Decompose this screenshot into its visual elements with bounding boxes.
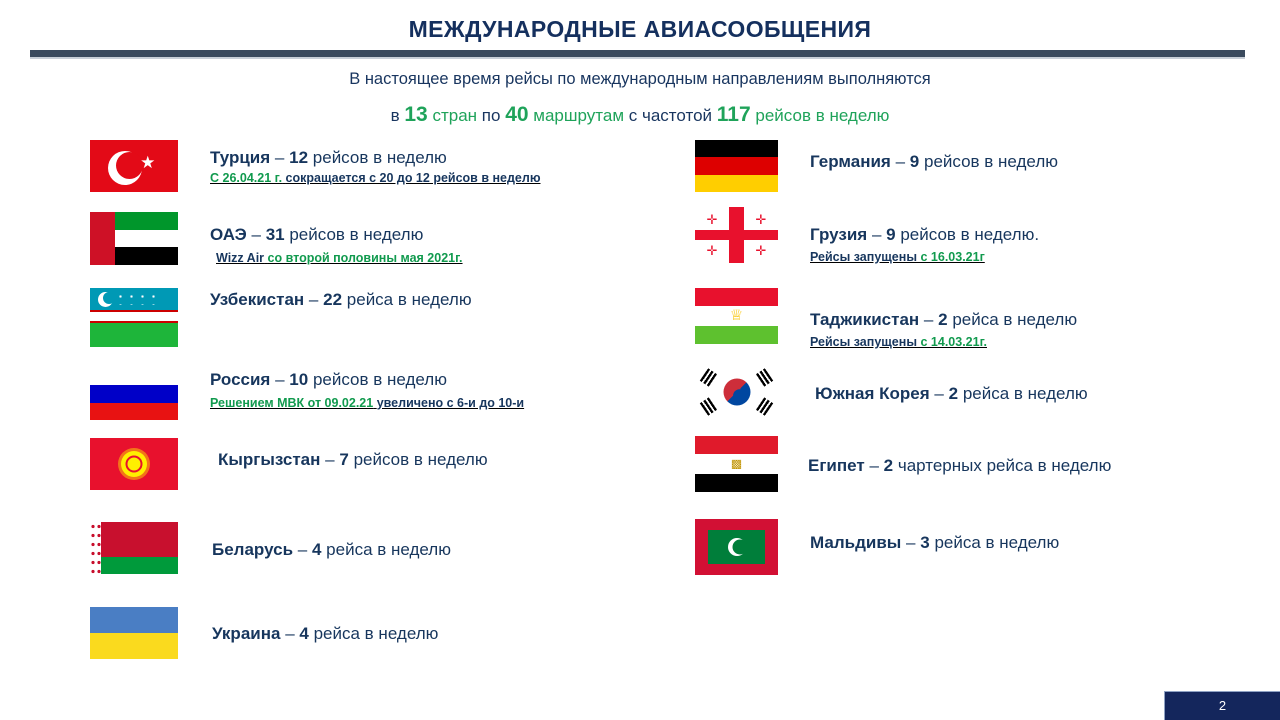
dash: –: [325, 450, 334, 469]
dash: –: [285, 624, 294, 643]
country-line: Беларусь – 4 рейса в неделю: [212, 540, 451, 560]
flight-count: 31: [266, 225, 285, 244]
south-korea-flag: [695, 364, 778, 420]
georgia-flag: ✛ ✛ ✛ ✛: [695, 207, 778, 263]
list-item: ♕ Таджикистан – 2 рейса в неделю Рейсы з…: [640, 288, 1280, 358]
dash: –: [924, 310, 933, 329]
country-name: Грузия: [810, 225, 867, 244]
uae-flag: [90, 212, 178, 265]
country-note: Решением МВК от 09.02.21 увеличено с 6-и…: [210, 396, 524, 411]
country-name: ОАЭ: [210, 225, 247, 244]
flight-unit: рейса в неделю: [347, 290, 472, 309]
country-text: Узбекистан – 22 рейса в неделю: [210, 290, 472, 310]
note-navy: увеличено с 6-и до 10-и: [377, 396, 524, 410]
note-navy: Рейсы запущены: [810, 250, 917, 264]
country-name: Мальдивы: [810, 533, 901, 552]
list-item: Украина – 4 рейса в неделю: [0, 607, 640, 667]
routes-word: маршрутам: [533, 106, 624, 125]
list-item: Россия – 10 рейсов в неделю Решением МВК…: [0, 368, 640, 436]
uzbekistan-flag: [90, 288, 178, 347]
dash: –: [869, 456, 878, 475]
country-name: Таджикистан: [810, 310, 919, 329]
page-title: МЕЖДУНАРОДНЫЕ АВИАСООБЩЕНИЯ: [0, 16, 1280, 43]
flight-count: 9: [910, 152, 919, 171]
country-text: ОАЭ – 31 рейсов в неделю Wizz Air со вто…: [210, 225, 463, 266]
dash: –: [906, 533, 915, 552]
flight-unit: рейса в неделю: [952, 310, 1077, 329]
page-number-badge: 2: [1164, 691, 1280, 720]
ukraine-flag: [90, 607, 178, 659]
list-item: Германия – 9 рейсов в неделю: [640, 140, 1280, 204]
flights-word: рейсов в неделю: [755, 106, 889, 125]
list-item: Южная Корея – 2 рейса в неделю: [640, 364, 1280, 428]
country-name: Египет: [808, 456, 865, 475]
dash: –: [251, 225, 260, 244]
country-line: Украина – 4 рейса в неделю: [212, 624, 438, 644]
slide-root: МЕЖДУНАРОДНЫЕ АВИАСООБЩЕНИЯ В настоящее …: [0, 0, 1280, 720]
flight-unit: чартерных рейса в неделю: [898, 456, 1112, 475]
flight-unit: рейсов в неделю: [289, 225, 423, 244]
note-green: с 16.03.21г: [920, 250, 984, 264]
country-note: С 26.04.21 г. сокращается с 20 до 12 рей…: [210, 171, 541, 186]
country-name: Беларусь: [212, 540, 293, 559]
note-green: с 14.03.21г.: [920, 335, 987, 349]
country-note: Wizz Air со второй половины мая 2021г.: [216, 251, 463, 266]
title-divider: [30, 50, 1245, 57]
flight-count: 4: [312, 540, 321, 559]
by-word: по: [482, 106, 501, 125]
country-name: Кыргызстан: [218, 450, 320, 469]
summary-line-1: В настоящее время рейсы по международным…: [0, 70, 1280, 89]
note-navy: Wizz Air: [216, 251, 264, 265]
flight-count: 9: [886, 225, 895, 244]
country-line: Египет – 2 чартерных рейса в неделю: [808, 456, 1111, 476]
flight-count: 10: [289, 370, 308, 389]
russia-flag: [90, 368, 178, 420]
flight-unit: рейсов в неделю: [313, 148, 447, 167]
flight-unit: рейса в неделю: [326, 540, 451, 559]
flight-unit: рейса в неделю: [314, 624, 439, 643]
flight-unit: рейсов в неделю: [354, 450, 488, 469]
list-item: ★ Турция – 12 рейсов в неделю С 26.04.21…: [0, 140, 640, 210]
flight-count: 4: [299, 624, 308, 643]
flight-count: 2: [949, 384, 958, 403]
summary-line-2: в 13 стран по 40 маршрутам с частотой 11…: [0, 103, 1280, 127]
frequency-word: с частотой: [629, 106, 712, 125]
country-name: Турция: [210, 148, 270, 167]
country-line: Турция – 12 рейсов в неделю: [210, 148, 541, 168]
flight-count: 12: [289, 148, 308, 167]
flight-unit: рейсов в неделю.: [900, 225, 1039, 244]
country-text: Египет – 2 чартерных рейса в неделю: [808, 456, 1111, 476]
country-name: Узбекистан: [210, 290, 304, 309]
dash: –: [872, 225, 881, 244]
dash: –: [309, 290, 318, 309]
belarus-flag: [90, 522, 178, 574]
country-text: Южная Корея – 2 рейса в неделю: [815, 384, 1088, 404]
flight-count: 22: [323, 290, 342, 309]
note-green: Решением МВК от 09.02.21: [210, 396, 373, 410]
country-text: Кыргызстан – 7 рейсов в неделю: [218, 450, 488, 470]
country-line: Узбекистан – 22 рейса в неделю: [210, 290, 472, 310]
egypt-flag: ▩: [695, 436, 778, 492]
country-line: Таджикистан – 2 рейса в неделю: [810, 310, 1077, 330]
routes-count: 40: [505, 103, 528, 126]
country-line: Южная Корея – 2 рейса в неделю: [815, 384, 1088, 404]
list-item: Мальдивы – 3 рейса в неделю: [640, 519, 1280, 583]
country-line: Кыргызстан – 7 рейсов в неделю: [218, 450, 488, 470]
note-navy: сокращается с 20 до 12 рейсов в неделю: [286, 171, 541, 185]
dash: –: [275, 370, 284, 389]
flights-count: 117: [717, 103, 751, 126]
flight-unit: рейсов в неделю: [313, 370, 447, 389]
flight-unit: рейса в неделю: [963, 384, 1088, 403]
country-text: Грузия – 9 рейсов в неделю. Рейсы запуще…: [810, 225, 1039, 265]
list-item: Беларусь – 4 рейса в неделю: [0, 522, 640, 582]
dash: –: [934, 384, 943, 403]
maldives-flag: [695, 519, 778, 575]
flight-count: 2: [938, 310, 947, 329]
countries-count: 13: [404, 103, 427, 126]
list-item: Узбекистан – 22 рейса в неделю: [0, 288, 640, 352]
dash: –: [298, 540, 307, 559]
flight-count: 2: [884, 456, 893, 475]
turkey-flag: ★: [90, 140, 178, 192]
country-text: Россия – 10 рейсов в неделю Решением МВК…: [210, 370, 524, 411]
germany-flag: [695, 140, 778, 192]
list-item: ▩ Египет – 2 чартерных рейса в неделю: [640, 436, 1280, 500]
flight-count: 3: [920, 533, 929, 552]
country-line: Россия – 10 рейсов в неделю: [210, 370, 524, 390]
country-text: Германия – 9 рейсов в неделю: [810, 152, 1058, 172]
countries-word: стран: [432, 106, 477, 125]
note-green: С 26.04.21 г.: [210, 171, 282, 185]
flight-unit: рейсов в неделю: [924, 152, 1058, 171]
country-note: Рейсы запущены с 14.03.21г.: [810, 335, 1077, 350]
list-item: ✛ ✛ ✛ ✛ Грузия – 9 рейсов в неделю. Рейс…: [640, 207, 1280, 277]
note-navy: Рейсы запущены: [810, 335, 917, 349]
flight-unit: рейса в неделю: [934, 533, 1059, 552]
country-name: Украина: [212, 624, 280, 643]
country-text: Беларусь – 4 рейса в неделю: [212, 540, 451, 560]
country-text: Мальдивы – 3 рейса в неделю: [810, 533, 1059, 553]
country-name: Германия: [810, 152, 891, 171]
country-name: Южная Корея: [815, 384, 930, 403]
country-line: Мальдивы – 3 рейса в неделю: [810, 533, 1059, 553]
country-line: Грузия – 9 рейсов в неделю.: [810, 225, 1039, 245]
dash: –: [896, 152, 905, 171]
note-green: со второй половины мая 2021г.: [268, 251, 463, 265]
tajikistan-flag: ♕: [695, 288, 778, 344]
country-line: ОАЭ – 31 рейсов в неделю: [210, 225, 463, 245]
list-item: Кыргызстан – 7 рейсов в неделю: [0, 438, 640, 498]
flight-count: 7: [339, 450, 348, 469]
country-text: Украина – 4 рейса в неделю: [212, 624, 438, 644]
summary-prefix: в: [391, 106, 400, 125]
country-text: Таджикистан – 2 рейса в неделю Рейсы зап…: [810, 310, 1077, 350]
dash: –: [275, 148, 284, 167]
country-name: Россия: [210, 370, 270, 389]
country-line: Германия – 9 рейсов в неделю: [810, 152, 1058, 172]
country-note: Рейсы запущены с 16.03.21г: [810, 250, 1039, 265]
country-text: Турция – 12 рейсов в неделю С 26.04.21 г…: [210, 148, 541, 186]
list-item: ОАЭ – 31 рейсов в неделю Wizz Air со вто…: [0, 212, 640, 282]
kyrgyzstan-flag: [90, 438, 178, 490]
